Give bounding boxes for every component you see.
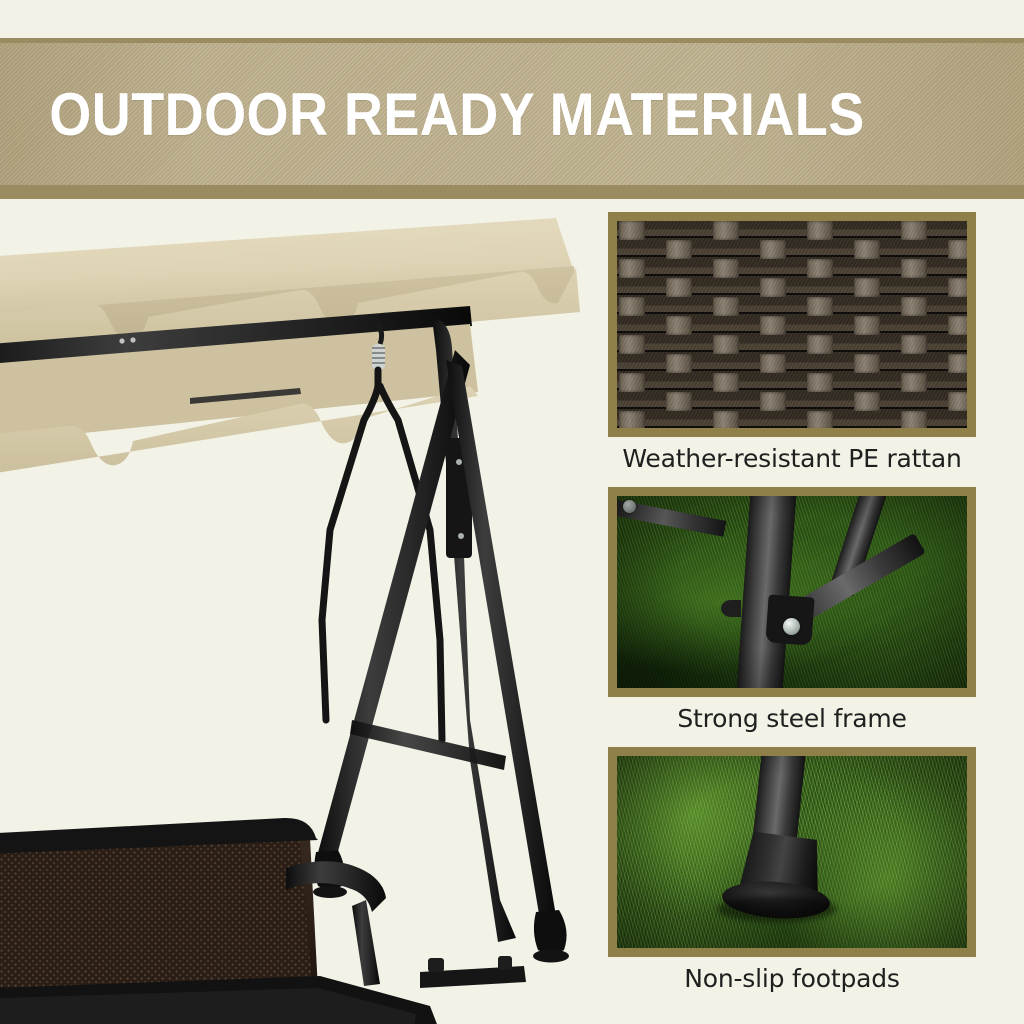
- panel-rattan-caption: Weather-resistant PE rattan: [608, 437, 976, 477]
- panel-steel-frame-frame: [608, 487, 976, 697]
- panel-footpads: Non-slip footpads: [608, 747, 984, 997]
- detail-panels: Weather-resistant PE rattan Strong steel…: [608, 212, 984, 1007]
- photo-vignette: [617, 756, 967, 948]
- hero-product-image: [0, 200, 600, 1024]
- panel-rattan: Weather-resistant PE rattan: [608, 212, 984, 477]
- rattan-grain-overlay: [617, 221, 967, 428]
- panel-steel-frame: Strong steel frame: [608, 487, 984, 737]
- panel-footpads-caption: Non-slip footpads: [608, 957, 976, 997]
- porch-swing-illustration: [0, 200, 600, 1024]
- header-banner: OUTDOOR READY MATERIALS: [0, 38, 1024, 199]
- photo-vignette: [617, 496, 967, 688]
- panel-steel-frame-caption: Strong steel frame: [608, 697, 976, 737]
- panel-footpads-frame: [608, 747, 976, 957]
- panel-rattan-frame: [608, 212, 976, 437]
- page-title: OUTDOOR READY MATERIALS: [49, 80, 864, 149]
